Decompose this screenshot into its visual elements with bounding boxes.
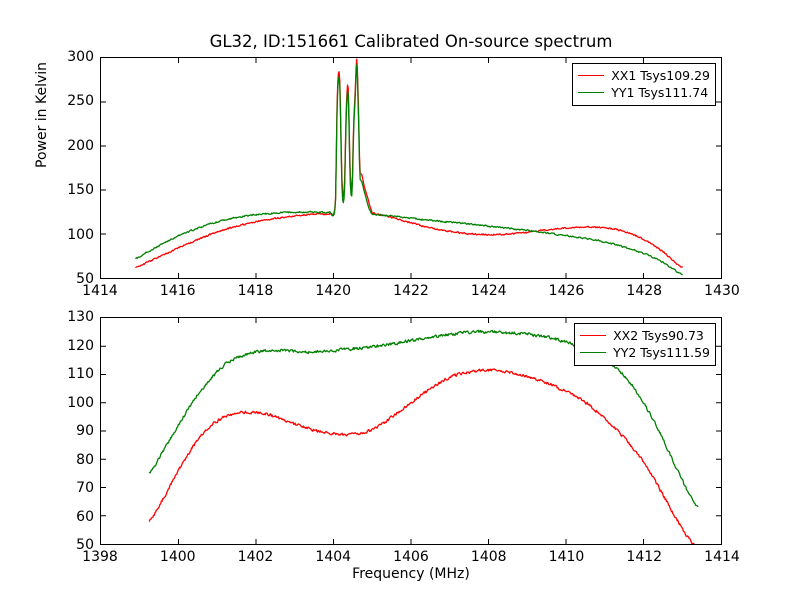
y-tick-label: 250 <box>67 93 94 109</box>
y-tick-label: 300 <box>67 49 94 65</box>
legend-label-xx1: XX1 Tsys109.29 <box>611 68 710 83</box>
figure-title: GL32, ID:151661 Calibrated On-source spe… <box>100 32 722 51</box>
bottom-plot-axes: XX2 Tsys90.73 YY2 Tsys111.59 <box>100 317 722 545</box>
y-tick-label: 50 <box>76 271 94 287</box>
legend-swatch-xx2 <box>580 335 606 336</box>
y-tick-label: 70 <box>76 480 94 496</box>
legend-swatch-yy2 <box>580 352 606 353</box>
y-tick-label: 80 <box>76 452 94 468</box>
y-tick-label: 150 <box>67 182 94 198</box>
y-tick-label: 120 <box>67 338 94 354</box>
x-tick-label: 1408 <box>471 549 507 565</box>
legend-label-xx2: XX2 Tsys90.73 <box>613 328 704 343</box>
x-tick-label: 1416 <box>160 283 196 299</box>
bottom-plot-legend: XX2 Tsys90.73 YY2 Tsys111.59 <box>574 323 716 366</box>
y-tick-label: 90 <box>76 423 94 439</box>
bottom-axis-x-label: Frequency (MHz) <box>100 566 722 582</box>
x-tick-label: 1428 <box>626 283 662 299</box>
figure-canvas: GL32, ID:151661 Calibrated On-source spe… <box>0 0 800 600</box>
x-tick-label: 1406 <box>393 549 429 565</box>
x-tick-label: 1400 <box>160 549 196 565</box>
x-tick-label: 1424 <box>471 283 507 299</box>
legend-entry: YY2 Tsys111.59 <box>580 344 710 361</box>
y-tick-label: 130 <box>67 309 94 325</box>
legend-label-yy2: YY2 Tsys111.59 <box>613 345 710 360</box>
x-tick-label: 1404 <box>315 549 351 565</box>
top-plot-legend: XX1 Tsys109.29 YY1 Tsys111.74 <box>572 63 716 106</box>
series-line <box>149 369 693 544</box>
legend-entry: XX2 Tsys90.73 <box>580 327 710 344</box>
x-tick-label: 1426 <box>549 283 585 299</box>
y-tick-label: 100 <box>67 227 94 243</box>
top-axis-y-label: Power in Kelvin <box>34 62 50 168</box>
y-tick-label: 50 <box>76 537 94 553</box>
x-tick-label: 1430 <box>704 283 740 299</box>
legend-swatch-xx1 <box>578 75 604 76</box>
x-tick-label: 1422 <box>393 283 429 299</box>
y-tick-label: 60 <box>76 509 94 525</box>
x-tick-label: 1412 <box>626 549 662 565</box>
legend-entry: YY1 Tsys111.74 <box>578 84 710 101</box>
legend-label-yy1: YY1 Tsys111.74 <box>611 85 708 100</box>
legend-swatch-yy1 <box>578 92 604 93</box>
legend-entry: XX1 Tsys109.29 <box>578 67 710 84</box>
x-tick-label: 1402 <box>238 549 274 565</box>
top-plot-axes: XX1 Tsys109.29 YY1 Tsys111.74 <box>100 57 722 279</box>
y-tick-label: 110 <box>67 366 94 382</box>
x-tick-label: 1414 <box>704 549 740 565</box>
x-tick-label: 1410 <box>549 549 585 565</box>
y-tick-label: 200 <box>67 138 94 154</box>
y-tick-label: 100 <box>67 395 94 411</box>
x-tick-label: 1420 <box>315 283 351 299</box>
x-tick-label: 1418 <box>238 283 274 299</box>
